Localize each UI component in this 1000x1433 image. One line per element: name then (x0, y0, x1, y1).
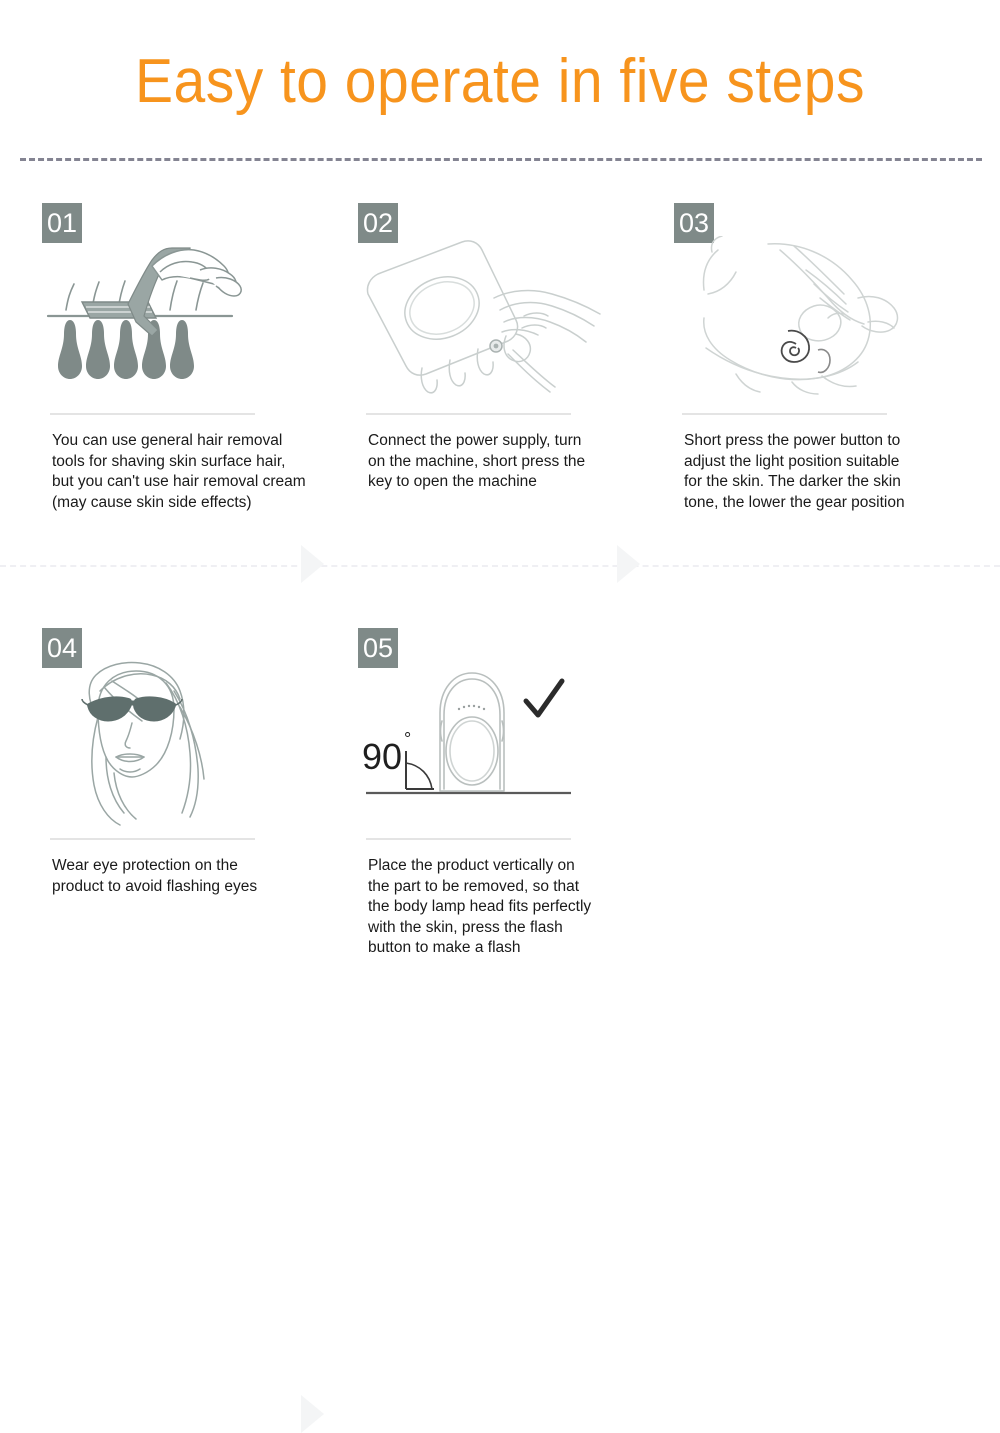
flow-arrow-2-to-3 (617, 545, 640, 583)
check-icon (526, 681, 562, 715)
caption-rule-04 (50, 838, 255, 840)
step-card-05: 05 (356, 625, 656, 985)
steps-row-bottom: 04 (0, 625, 1000, 985)
step-caption-04: Wear eye protection on the product to av… (52, 856, 320, 897)
step-card-01: 01 (40, 200, 340, 560)
ipl-device-power-on-icon (356, 236, 656, 408)
finger-press-button-icon (672, 236, 972, 408)
woman-sunglasses-icon (40, 661, 340, 833)
step-caption-01: You can use general hair removal tools f… (52, 431, 320, 513)
caption-rule-05 (366, 838, 571, 840)
device-vertical-90-degrees-icon: 90 ° (356, 661, 656, 833)
razor-shaving-icon (40, 236, 340, 408)
middle-dashed-divider (0, 565, 1000, 567)
angle-unit-label: ° (404, 729, 411, 749)
flow-arrow-4-to-5 (301, 1395, 324, 1433)
top-dashed-divider (20, 158, 982, 161)
caption-rule-01 (50, 413, 255, 415)
step-caption-05: Place the product vertically on the part… (368, 856, 636, 959)
caption-rule-02 (366, 413, 571, 415)
step-caption-03: Short press the power button to adjust t… (684, 431, 942, 513)
caption-rule-03 (682, 413, 887, 415)
step-card-02: 02 (356, 200, 656, 560)
step-card-04: 04 (40, 625, 340, 985)
step-card-03: 03 (672, 200, 972, 560)
step-caption-02: Connect the power supply, turn on the ma… (368, 431, 636, 493)
flow-arrow-1-to-2 (301, 545, 324, 583)
page-title: Easy to operate in five steps (40, 46, 960, 118)
angle-value-label: 90 (362, 736, 402, 777)
steps-row-top: 01 (0, 200, 1000, 560)
